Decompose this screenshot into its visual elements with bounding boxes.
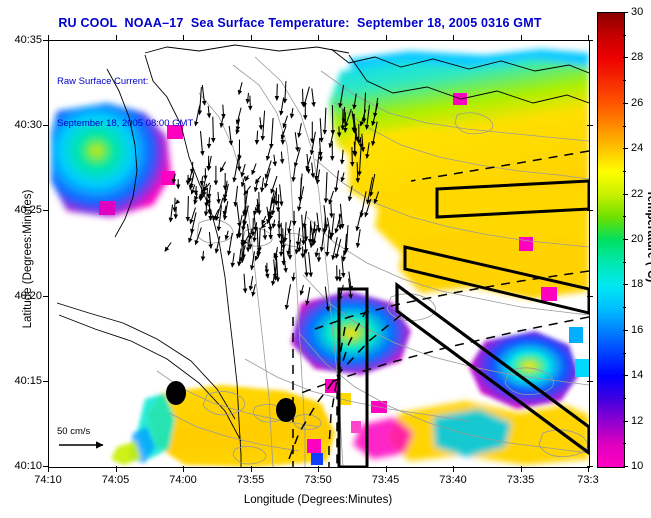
- colorbar-tick: [623, 466, 628, 467]
- y-axis-tick-label: 40:20: [0, 290, 42, 302]
- transect-box-diagonal: [405, 247, 589, 313]
- scale-bar-label: 50 cm/s: [57, 426, 113, 437]
- y-axis-tick-label: 40:15: [0, 375, 42, 387]
- colorbar-minor-tick: [623, 216, 626, 217]
- x-axis-tick: [183, 466, 184, 472]
- x-axis-tick-top: [318, 35, 319, 41]
- colorbar-minor-tick: [623, 126, 626, 127]
- colorbar-tick-label: 26: [631, 97, 643, 109]
- x-axis-tick: [318, 466, 319, 472]
- y-axis-tick: [43, 40, 49, 41]
- scale-bar-arrow-icon: [57, 439, 113, 451]
- station-marker-2: [276, 398, 296, 422]
- y-axis-tick-right: [587, 125, 593, 126]
- colorbar-tick: [623, 57, 628, 58]
- x-axis-tick-top: [183, 35, 184, 41]
- colorbar-tick: [623, 375, 628, 376]
- sst-map-plot: Raw Surface Current: September 18, 2005 …: [48, 40, 590, 468]
- annotation-line-2: September 18, 2005 08:00 GMT: [57, 117, 193, 131]
- x-axis-tick-top: [251, 35, 252, 41]
- colorbar-gradient: [598, 13, 624, 467]
- x-axis-tick: [386, 466, 387, 472]
- x-axis-tick-top: [521, 35, 522, 41]
- y-axis-tick-right: [587, 466, 593, 467]
- station-marker-1: [166, 381, 186, 405]
- transect-box-north: [437, 181, 589, 217]
- colorbar-tick: [623, 239, 628, 240]
- colorbar-tick: [623, 421, 628, 422]
- x-axis-tick: [521, 466, 522, 472]
- colorbar-tick: [623, 284, 628, 285]
- colorbar-tick-label: 12: [631, 415, 643, 427]
- colorbar-tick-label: 14: [631, 369, 643, 381]
- colorbar-minor-tick: [623, 80, 626, 81]
- y-axis-tick-right: [587, 296, 593, 297]
- x-axis-title: Longitude (Degrees:Minutes): [48, 494, 588, 506]
- colorbar-tick-label: 24: [631, 142, 643, 154]
- x-axis-tick-label: 73:35: [507, 474, 535, 486]
- colorbar-minor-tick: [623, 171, 626, 172]
- transect-box-long-diagonal: [397, 285, 589, 453]
- colorbar-tick-label: 20: [631, 233, 643, 245]
- colorbar-minor-tick: [623, 353, 626, 354]
- x-axis-tick-label: 73:3: [577, 474, 598, 486]
- y-axis-tick: [43, 296, 49, 297]
- velocity-scale-bar: 50 cm/s: [57, 426, 113, 451]
- colorbar-tick-label: 28: [631, 51, 643, 63]
- y-axis-tick-label: 40:35: [0, 34, 42, 46]
- x-axis-tick-top: [453, 35, 454, 41]
- colorbar-tick-label: 16: [631, 324, 643, 336]
- x-axis-tick-label: 73:55: [237, 474, 265, 486]
- y-axis-tick-label: 40:10: [0, 460, 42, 472]
- x-axis-tick: [116, 466, 117, 472]
- colorbar-tick-label: 10: [631, 460, 643, 472]
- colorbar-tick: [623, 103, 628, 104]
- x-axis-tick-label: 73:40: [439, 474, 467, 486]
- colorbar-tick-label: 30: [631, 6, 643, 18]
- y-axis-tick-label: 40:25: [0, 204, 42, 216]
- y-axis-tick-label: 40:30: [0, 119, 42, 131]
- colorbar-title: Temperature (°C): [645, 151, 651, 321]
- y-axis-title: Latitude (Degrees:Minutes): [22, 149, 34, 369]
- colorbar-minor-tick: [623, 262, 626, 263]
- x-axis-tick: [251, 466, 252, 472]
- y-axis-tick-right: [587, 381, 593, 382]
- colorbar: [597, 12, 625, 468]
- annotation-text: Raw Surface Current: September 18, 2005 …: [57, 47, 193, 159]
- x-axis-tick: [453, 466, 454, 472]
- y-axis-tick: [43, 125, 49, 126]
- x-axis-tick-label: 74:10: [34, 474, 62, 486]
- colorbar-tick: [623, 330, 628, 331]
- y-axis-tick-right: [587, 40, 593, 41]
- colorbar-tick: [623, 194, 628, 195]
- x-axis-tick-label: 73:45: [372, 474, 400, 486]
- x-axis-tick-label: 73:50: [304, 474, 332, 486]
- colorbar-tick: [623, 148, 628, 149]
- y-axis-tick: [43, 210, 49, 211]
- annotation-line-1: Raw Surface Current:: [57, 75, 193, 89]
- colorbar-minor-tick: [623, 398, 626, 399]
- colorbar-tick: [623, 12, 628, 13]
- x-axis-tick-label: 74:00: [169, 474, 197, 486]
- x-axis-tick-label: 74:05: [102, 474, 130, 486]
- y-axis-tick: [43, 381, 49, 382]
- colorbar-minor-tick: [623, 443, 626, 444]
- page-title: RU COOL NOAA–17 Sea Surface Temperature:…: [0, 16, 600, 30]
- y-axis-tick-right: [587, 210, 593, 211]
- colorbar-minor-tick: [623, 307, 626, 308]
- station-markers: [166, 381, 296, 422]
- colorbar-tick-label: 22: [631, 188, 643, 200]
- colorbar-minor-tick: [623, 35, 626, 36]
- y-axis-tick: [43, 466, 49, 467]
- colorbar-tick-label: 18: [631, 278, 643, 290]
- x-axis-tick-top: [116, 35, 117, 41]
- x-axis-tick-top: [386, 35, 387, 41]
